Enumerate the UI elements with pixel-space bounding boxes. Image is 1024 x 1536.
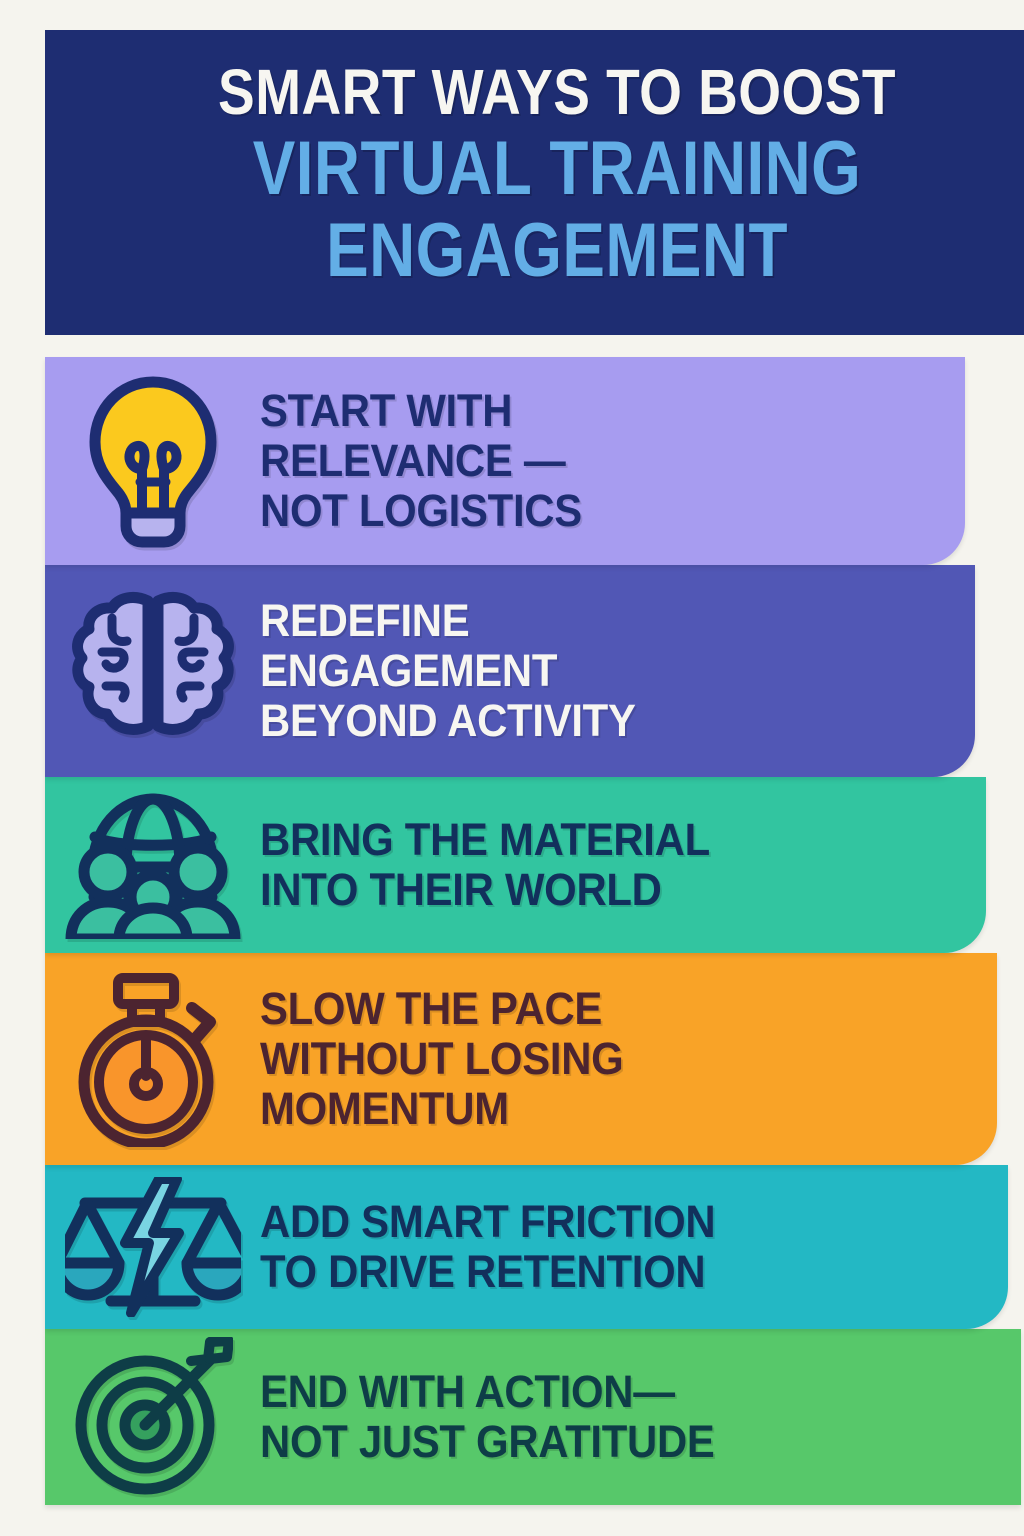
target-arrow-icon [45,1337,260,1497]
tip-row-2[interactable]: REDEFINE ENGAGEMENT BEYOND ACTIVITY [45,565,975,777]
tip-row-5[interactable]: ADD SMART FRICTION TO DRIVE RETENTION [45,1165,1008,1329]
tip-row-2-line-2: ENGAGEMENT [260,646,916,696]
tip-row-4-line-1: SLOW THE PACE [260,984,936,1034]
header-title-line-1: SMART WAYS TO BOOST [168,56,945,128]
lightbulb-icon [45,374,260,549]
tip-row-3-text: BRING THE MATERIAL INTO THEIR WORLD [260,815,935,915]
scales-lightning-icon [45,1177,260,1317]
tip-row-4-text: SLOW THE PACE WITHOUT LOSING MOMENTUM [260,984,945,1134]
tip-row-2-text: REDEFINE ENGAGEMENT BEYOND ACTIVITY [260,596,925,746]
tip-row-2-line-3: BEYOND ACTIVITY [260,696,916,746]
tip-row-5-line-1: ADD SMART FRICTION [260,1197,946,1247]
tip-row-6-line-1: END WITH ACTION— [260,1367,958,1417]
tip-row-4[interactable]: SLOW THE PACE WITHOUT LOSING MOMENTUM [45,953,997,1165]
tip-row-3-line-1: BRING THE MATERIAL [260,815,926,865]
infographic-poster: SMART WAYS TO BOOST VIRTUAL TRAINING ENG… [0,0,1024,1536]
tip-row-1-text: START WITH RELEVANCE — NOT LOGISTICS [260,386,916,536]
tip-row-6[interactable]: END WITH ACTION— NOT JUST GRATITUDE [45,1329,1021,1505]
brain-icon [45,591,260,751]
tip-row-6-line-2: NOT JUST GRATITUDE [260,1417,958,1467]
tip-row-5-line-2: TO DRIVE RETENTION [260,1247,946,1297]
tip-row-6-text: END WITH ACTION— NOT JUST GRATITUDE [260,1367,968,1467]
stopwatch-icon [45,972,260,1147]
tip-row-1-line-3: NOT LOGISTICS [260,486,906,536]
tip-row-1-line-2: RELEVANCE — [260,436,906,486]
tip-row-1[interactable]: START WITH RELEVANCE — NOT LOGISTICS [45,357,965,565]
tip-row-3[interactable]: BRING THE MATERIAL INTO THEIR WORLD [45,777,986,953]
tip-row-1-line-1: START WITH [260,386,906,436]
header-title-line-3: ENGAGEMENT [177,210,936,292]
tip-row-4-line-2: WITHOUT LOSING [260,1034,936,1084]
tip-row-2-line-1: REDEFINE [260,596,916,646]
globe-people-icon [45,791,260,939]
poster-header: SMART WAYS TO BOOST VIRTUAL TRAINING ENG… [45,30,1024,335]
header-title-line-2: VIRTUAL TRAINING [177,128,936,210]
tip-row-4-line-3: MOMENTUM [260,1084,936,1134]
tip-row-5-text: ADD SMART FRICTION TO DRIVE RETENTION [260,1197,956,1297]
tip-row-3-line-2: INTO THEIR WORLD [260,865,926,915]
